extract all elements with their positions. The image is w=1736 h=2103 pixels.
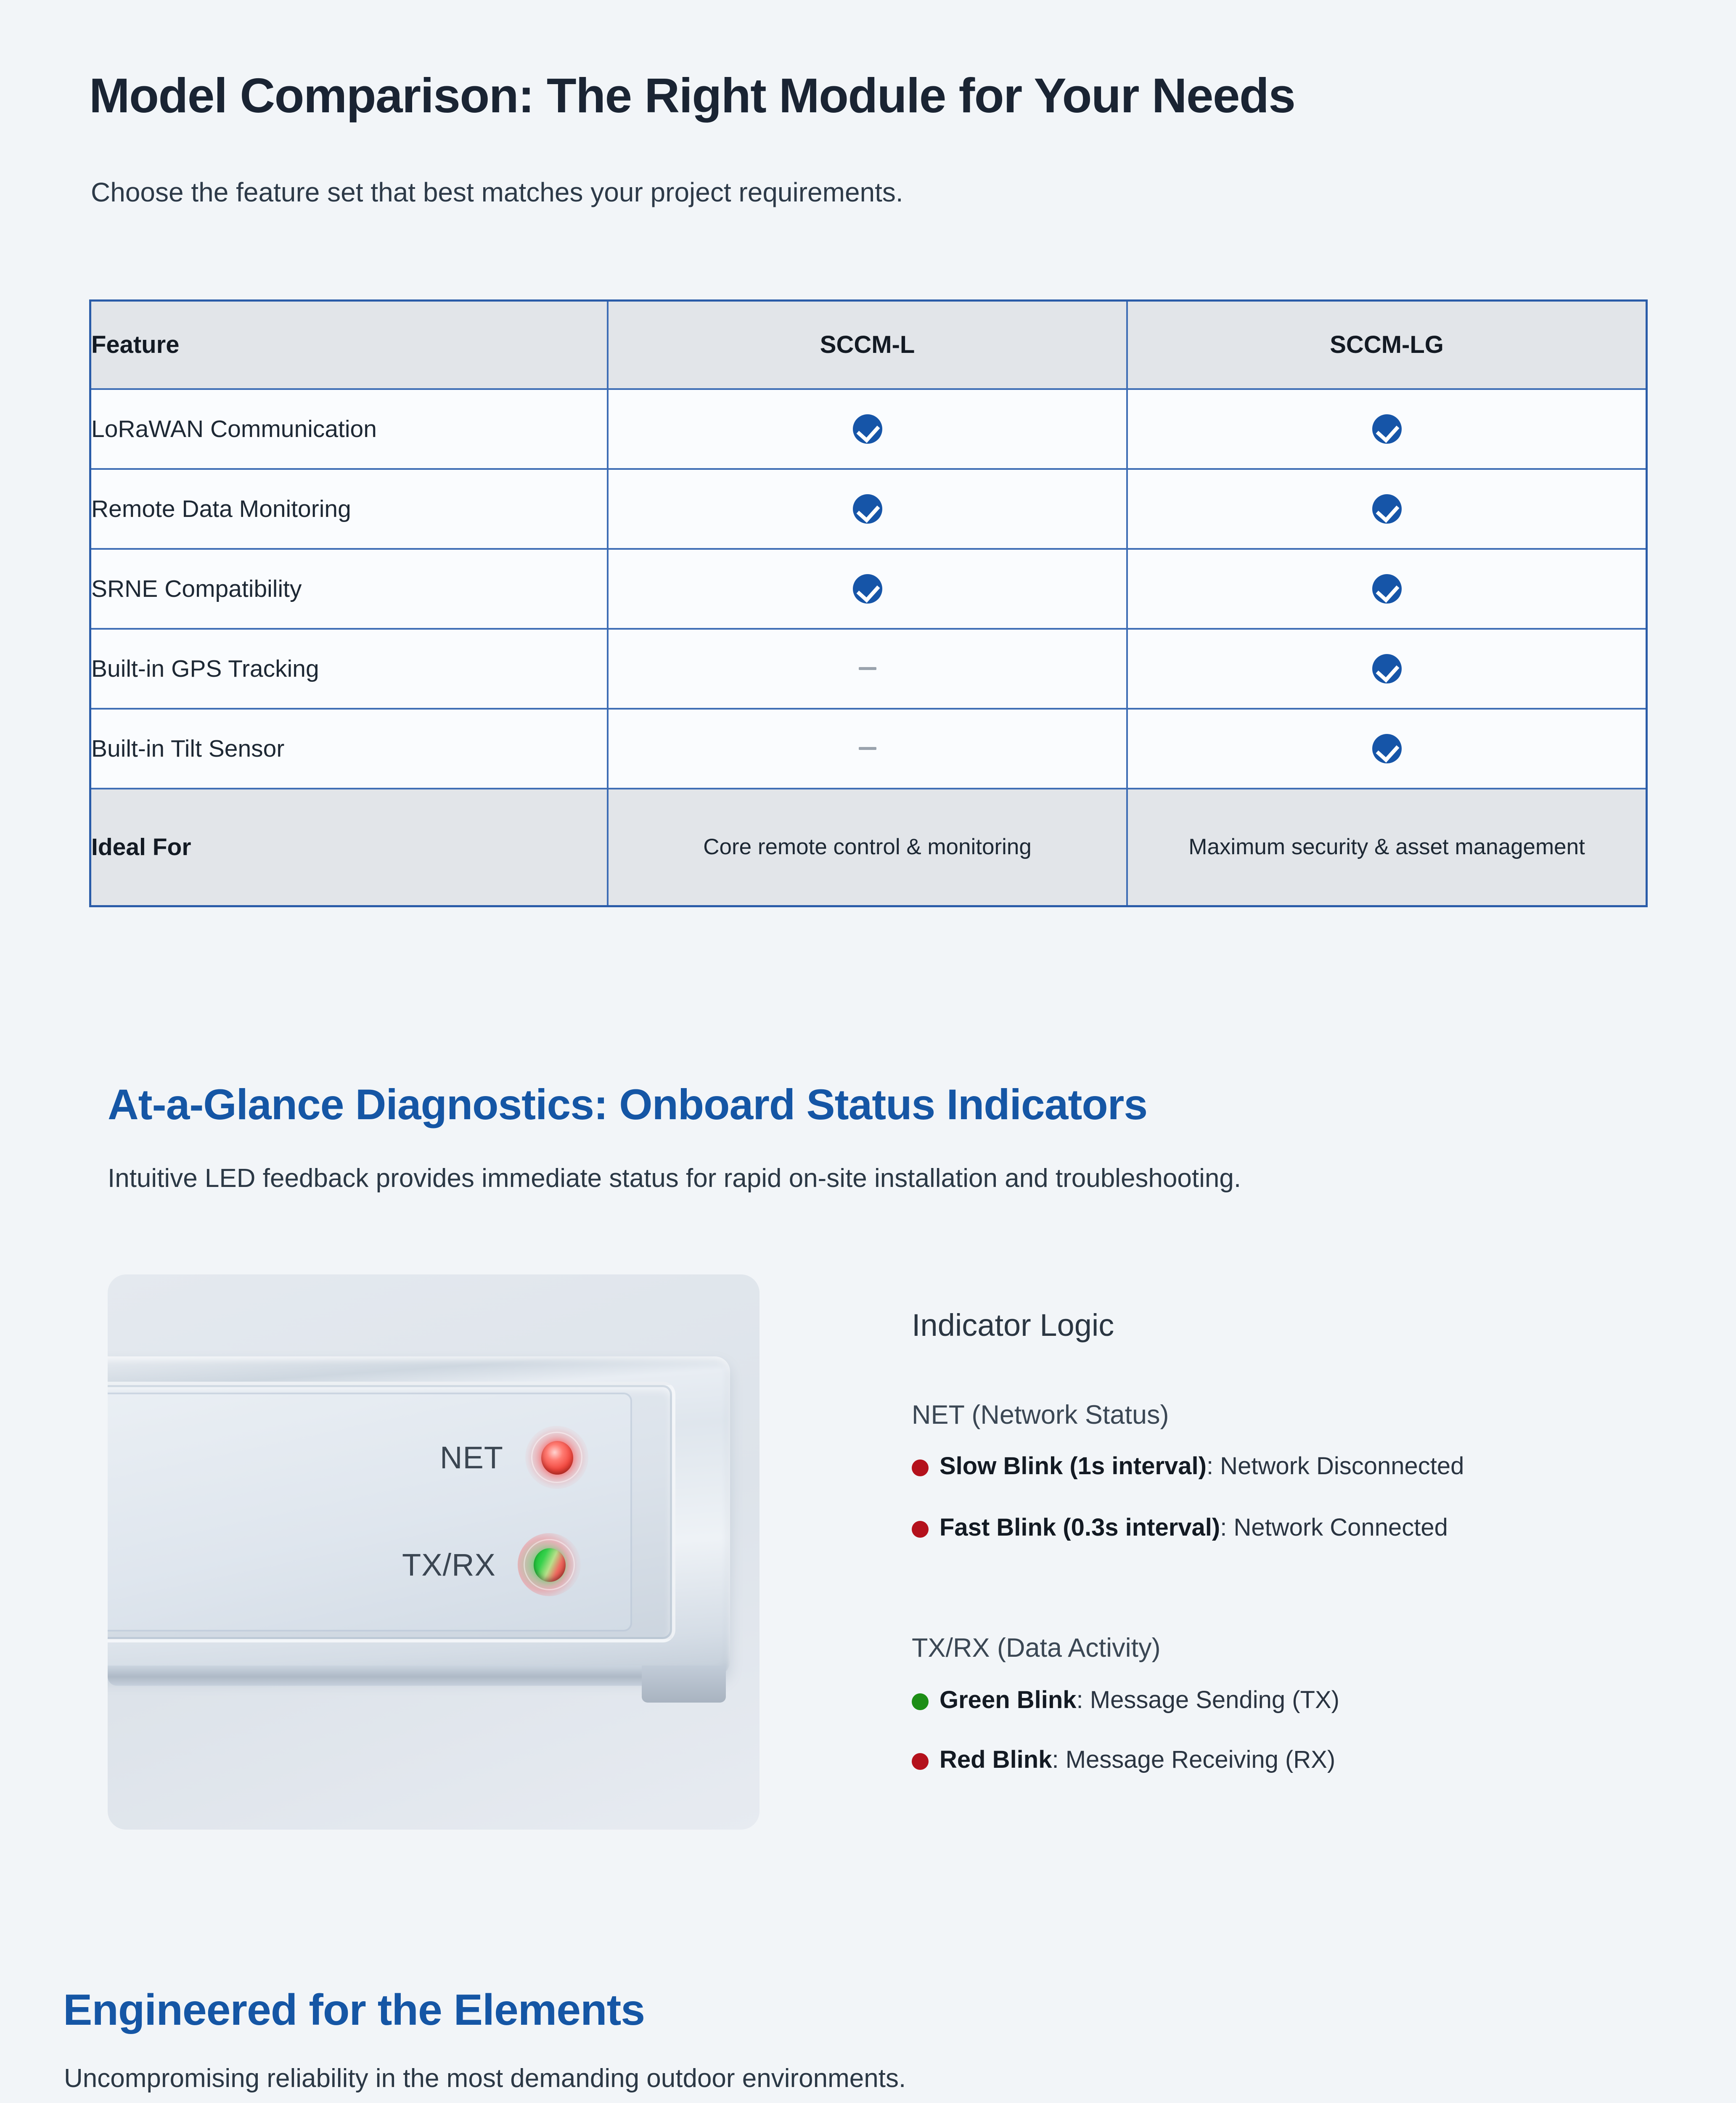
check-icon xyxy=(853,574,882,604)
table-row: Built-in GPS Tracking xyxy=(90,629,1647,709)
table-row: LoRaWAN Communication xyxy=(90,389,1647,469)
page-root: Model Comparison: The Right Module for Y… xyxy=(0,0,1736,2103)
feature-label: SRNE Compatibility xyxy=(90,549,608,629)
column-header-sccm-l: SCCM-L xyxy=(608,301,1127,389)
led-bulb-icon xyxy=(541,1441,573,1475)
feature-label: Built-in GPS Tracking xyxy=(90,629,608,709)
check-icon xyxy=(1372,654,1402,683)
indicator-term: Fast Blink (0.3s interval) xyxy=(939,1513,1220,1541)
indicator-group-txrx-label: TX/RX (Data Activity) xyxy=(912,1633,1161,1663)
value-cell xyxy=(1127,549,1646,629)
net-led-label: NET xyxy=(440,1440,503,1475)
status-dot-red-icon xyxy=(912,1753,929,1770)
indicator-logic-title: Indicator Logic xyxy=(912,1307,1114,1343)
check-icon xyxy=(853,414,882,444)
net-led xyxy=(525,1426,588,1489)
column-header-feature: Feature xyxy=(90,301,608,389)
ideal-for-sccm-l: Core remote control & monitoring xyxy=(608,789,1127,906)
elements-subtitle: Uncompromising reliability in the most d… xyxy=(64,2063,906,2093)
indicator-item: Red Blink : Message Receiving (RX) xyxy=(912,1745,1335,1774)
indicator-term: Green Blink xyxy=(939,1686,1077,1714)
value-cell xyxy=(1127,709,1646,789)
device-mount-foot xyxy=(642,1666,726,1703)
value-cell xyxy=(608,549,1127,629)
device-base xyxy=(108,1666,726,1686)
check-icon xyxy=(1372,734,1402,763)
feature-label: Remote Data Monitoring xyxy=(90,469,608,549)
diagnostics-title: At-a-Glance Diagnostics: Onboard Status … xyxy=(108,1080,1147,1129)
txrx-indicator-row: TX/RX xyxy=(402,1533,581,1596)
value-cell xyxy=(608,469,1127,549)
status-dot-red-icon xyxy=(912,1459,929,1476)
table-footer-row: Ideal For Core remote control & monitori… xyxy=(90,789,1647,906)
dash-icon xyxy=(859,667,876,670)
check-icon xyxy=(1372,494,1402,524)
ideal-for-sccm-lg: Maximum security & asset management xyxy=(1127,789,1646,906)
indicator-term: Slow Blink (1s interval) xyxy=(939,1452,1207,1480)
net-indicator-row: NET xyxy=(440,1426,588,1489)
value-cell xyxy=(1127,389,1646,469)
indicator-desc: : Message Receiving (RX) xyxy=(1052,1745,1336,1774)
column-header-sccm-lg: SCCM-LG xyxy=(1127,301,1646,389)
table-row: Built-in Tilt Sensor xyxy=(90,709,1647,789)
indicator-item: Fast Blink (0.3s interval) : Network Con… xyxy=(912,1513,1448,1541)
value-cell xyxy=(1127,629,1646,709)
check-icon xyxy=(853,494,882,524)
dash-icon xyxy=(859,747,876,750)
indicator-desc: : Network Disconnected xyxy=(1207,1452,1464,1480)
ideal-for-label: Ideal For xyxy=(90,789,608,906)
elements-title: Engineered for the Elements xyxy=(63,1985,645,2035)
txrx-led xyxy=(518,1533,581,1596)
page-subtitle: Choose the feature set that best matches… xyxy=(91,177,903,208)
indicator-desc: : Network Connected xyxy=(1220,1513,1448,1541)
table-header-row: Feature SCCM-L SCCM-LG xyxy=(90,301,1647,389)
value-cell xyxy=(608,709,1127,789)
table-row: Remote Data Monitoring xyxy=(90,469,1647,549)
value-cell xyxy=(608,389,1127,469)
device-housing xyxy=(108,1356,730,1676)
diagnostics-subtitle: Intuitive LED feedback provides immediat… xyxy=(108,1160,1470,1197)
check-icon xyxy=(1372,574,1402,604)
device-bezel xyxy=(108,1382,675,1642)
indicator-term: Red Blink xyxy=(939,1745,1052,1774)
indicator-group-net-label: NET (Network Status) xyxy=(912,1400,1169,1430)
led-illustration-card: NET TX/RX xyxy=(108,1274,759,1830)
comparison-table: Feature SCCM-L SCCM-LG LoRaWAN Communica… xyxy=(89,299,1648,907)
value-cell xyxy=(608,629,1127,709)
indicator-desc: : Message Sending (TX) xyxy=(1077,1686,1339,1714)
txrx-led-label: TX/RX xyxy=(402,1547,496,1583)
indicator-item: Green Blink : Message Sending (TX) xyxy=(912,1686,1339,1714)
table-row: SRNE Compatibility xyxy=(90,549,1647,629)
status-dot-red-icon xyxy=(912,1521,929,1538)
check-icon xyxy=(1372,414,1402,444)
feature-label: Built-in Tilt Sensor xyxy=(90,709,608,789)
led-bulb-icon xyxy=(534,1548,566,1582)
value-cell xyxy=(1127,469,1646,549)
indicator-item: Slow Blink (1s interval) : Network Disco… xyxy=(912,1452,1464,1480)
feature-label: LoRaWAN Communication xyxy=(90,389,608,469)
page-title: Model Comparison: The Right Module for Y… xyxy=(89,67,1295,124)
status-dot-green-icon xyxy=(912,1693,929,1710)
